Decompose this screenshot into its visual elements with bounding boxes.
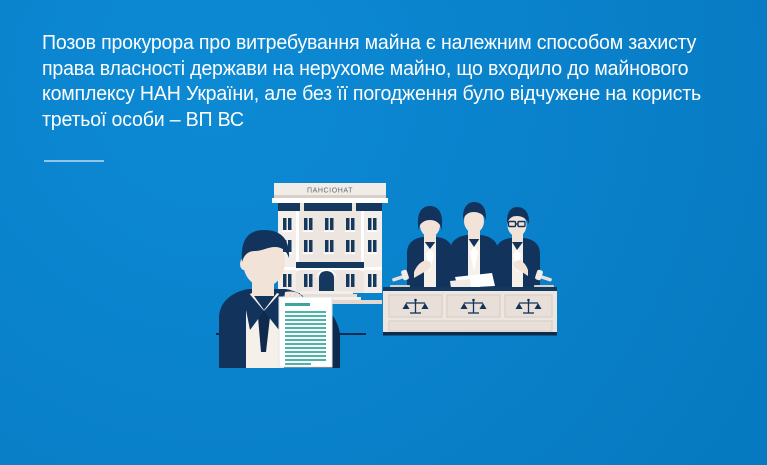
building-entrance-door (319, 271, 334, 291)
bench-base-shadow (383, 332, 557, 336)
prosecutor-ear (240, 258, 248, 270)
building-sign-shadow (274, 195, 386, 198)
bench-lower-panel (389, 321, 552, 331)
building-step-1 (300, 291, 353, 294)
building-sign-text: ПАНСІОНАТ (307, 188, 353, 195)
document-held (279, 297, 332, 367)
bench-emblem-panels (389, 295, 552, 317)
judge-right (495, 207, 540, 288)
building-group: ПАНСІОНАТ (272, 183, 388, 304)
building-attic-gap-1 (300, 203, 304, 211)
building-attic-gap-2 (352, 203, 356, 211)
slide-canvas: Позов прокурора про витребування майна є… (0, 0, 767, 465)
building-balcony-band (296, 262, 364, 268)
courtroom-illustration: ПАНСІОНАТ (0, 0, 767, 465)
courtroom-bench-group (383, 202, 557, 336)
judge-left (407, 206, 453, 288)
document-title-bar (285, 303, 310, 306)
bench-top-edge (383, 287, 557, 291)
building-cornice (272, 198, 388, 203)
building-attic-band (278, 203, 382, 211)
